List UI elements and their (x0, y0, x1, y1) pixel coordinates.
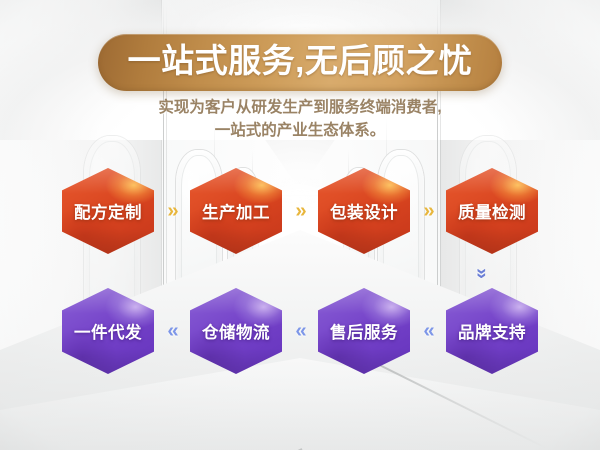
chevron-left-icon: ‹‹ (282, 321, 318, 341)
flow-step-after-sales-service[interactable]: 售后服务 (318, 288, 410, 374)
chevron-right-icon: ›› (282, 201, 318, 221)
hex-bevel-overlay (62, 168, 154, 254)
flow-step-quality-inspection[interactable]: 质量检测 (446, 168, 538, 254)
flow-step-label: 包装设计 (330, 199, 398, 223)
hex-bevel-overlay (446, 288, 538, 374)
flow-step-label: 品牌支持 (458, 319, 526, 343)
process-flow-row-top: 配方定制 ›› 生产加工 ›› 包装设计 ›› 质量检测 (0, 168, 600, 254)
flow-step-label: 售后服务 (330, 319, 398, 343)
flow-step-warehousing-logistics[interactable]: 仓储物流 (190, 288, 282, 374)
subtitle: 实现为客户从研发生产到服务终端消费者, 一站式的产业生态体系。 (0, 96, 600, 142)
hex-bevel-overlay (318, 288, 410, 374)
flow-step-dropshipping[interactable]: 一件代发 (62, 288, 154, 374)
chevron-down-glyph: ›› (472, 268, 491, 277)
flow-step-formula-customization[interactable]: 配方定制 (62, 168, 154, 254)
page-title: 一站式服务,无后顾之忧 (128, 41, 473, 81)
flow-step-label: 配方定制 (74, 199, 142, 223)
flow-step-brand-support[interactable]: 品牌支持 (446, 288, 538, 374)
subtitle-line-1: 实现为客户从研发生产到服务终端消费者, (0, 96, 600, 119)
flow-step-label: 仓储物流 (202, 319, 270, 343)
flow-step-label: 质量检测 (458, 199, 526, 223)
promo-banner-page: 一站式服务,无后顾之忧 实现为客户从研发生产到服务终端消费者, 一站式的产业生态… (0, 0, 600, 450)
flow-step-label: 生产加工 (202, 199, 270, 223)
flow-step-label: 一件代发 (74, 319, 142, 343)
title-banner: 一站式服务,无后顾之忧 (0, 34, 600, 91)
chevron-down-icon: ›› (467, 258, 495, 286)
flow-step-packaging-design[interactable]: 包装设计 (318, 168, 410, 254)
flow-step-production-processing[interactable]: 生产加工 (190, 168, 282, 254)
hex-bevel-overlay (190, 168, 282, 254)
chevron-right-icon: ›› (410, 201, 446, 221)
hex-bevel-overlay (318, 168, 410, 254)
hex-bevel-overlay (446, 168, 538, 254)
hex-bevel-overlay (62, 288, 154, 374)
subtitle-line-2: 一站式的产业生态体系。 (0, 119, 600, 142)
title-pill: 一站式服务,无后顾之忧 (98, 34, 503, 91)
chevron-right-icon: ›› (154, 201, 190, 221)
process-flow-row-bottom: 一件代发 ‹‹ 仓储物流 ‹‹ 售后服务 ‹‹ 品牌支持 (0, 288, 600, 374)
chevron-left-icon: ‹‹ (154, 321, 190, 341)
hex-bevel-overlay (190, 288, 282, 374)
chevron-left-icon: ‹‹ (410, 321, 446, 341)
